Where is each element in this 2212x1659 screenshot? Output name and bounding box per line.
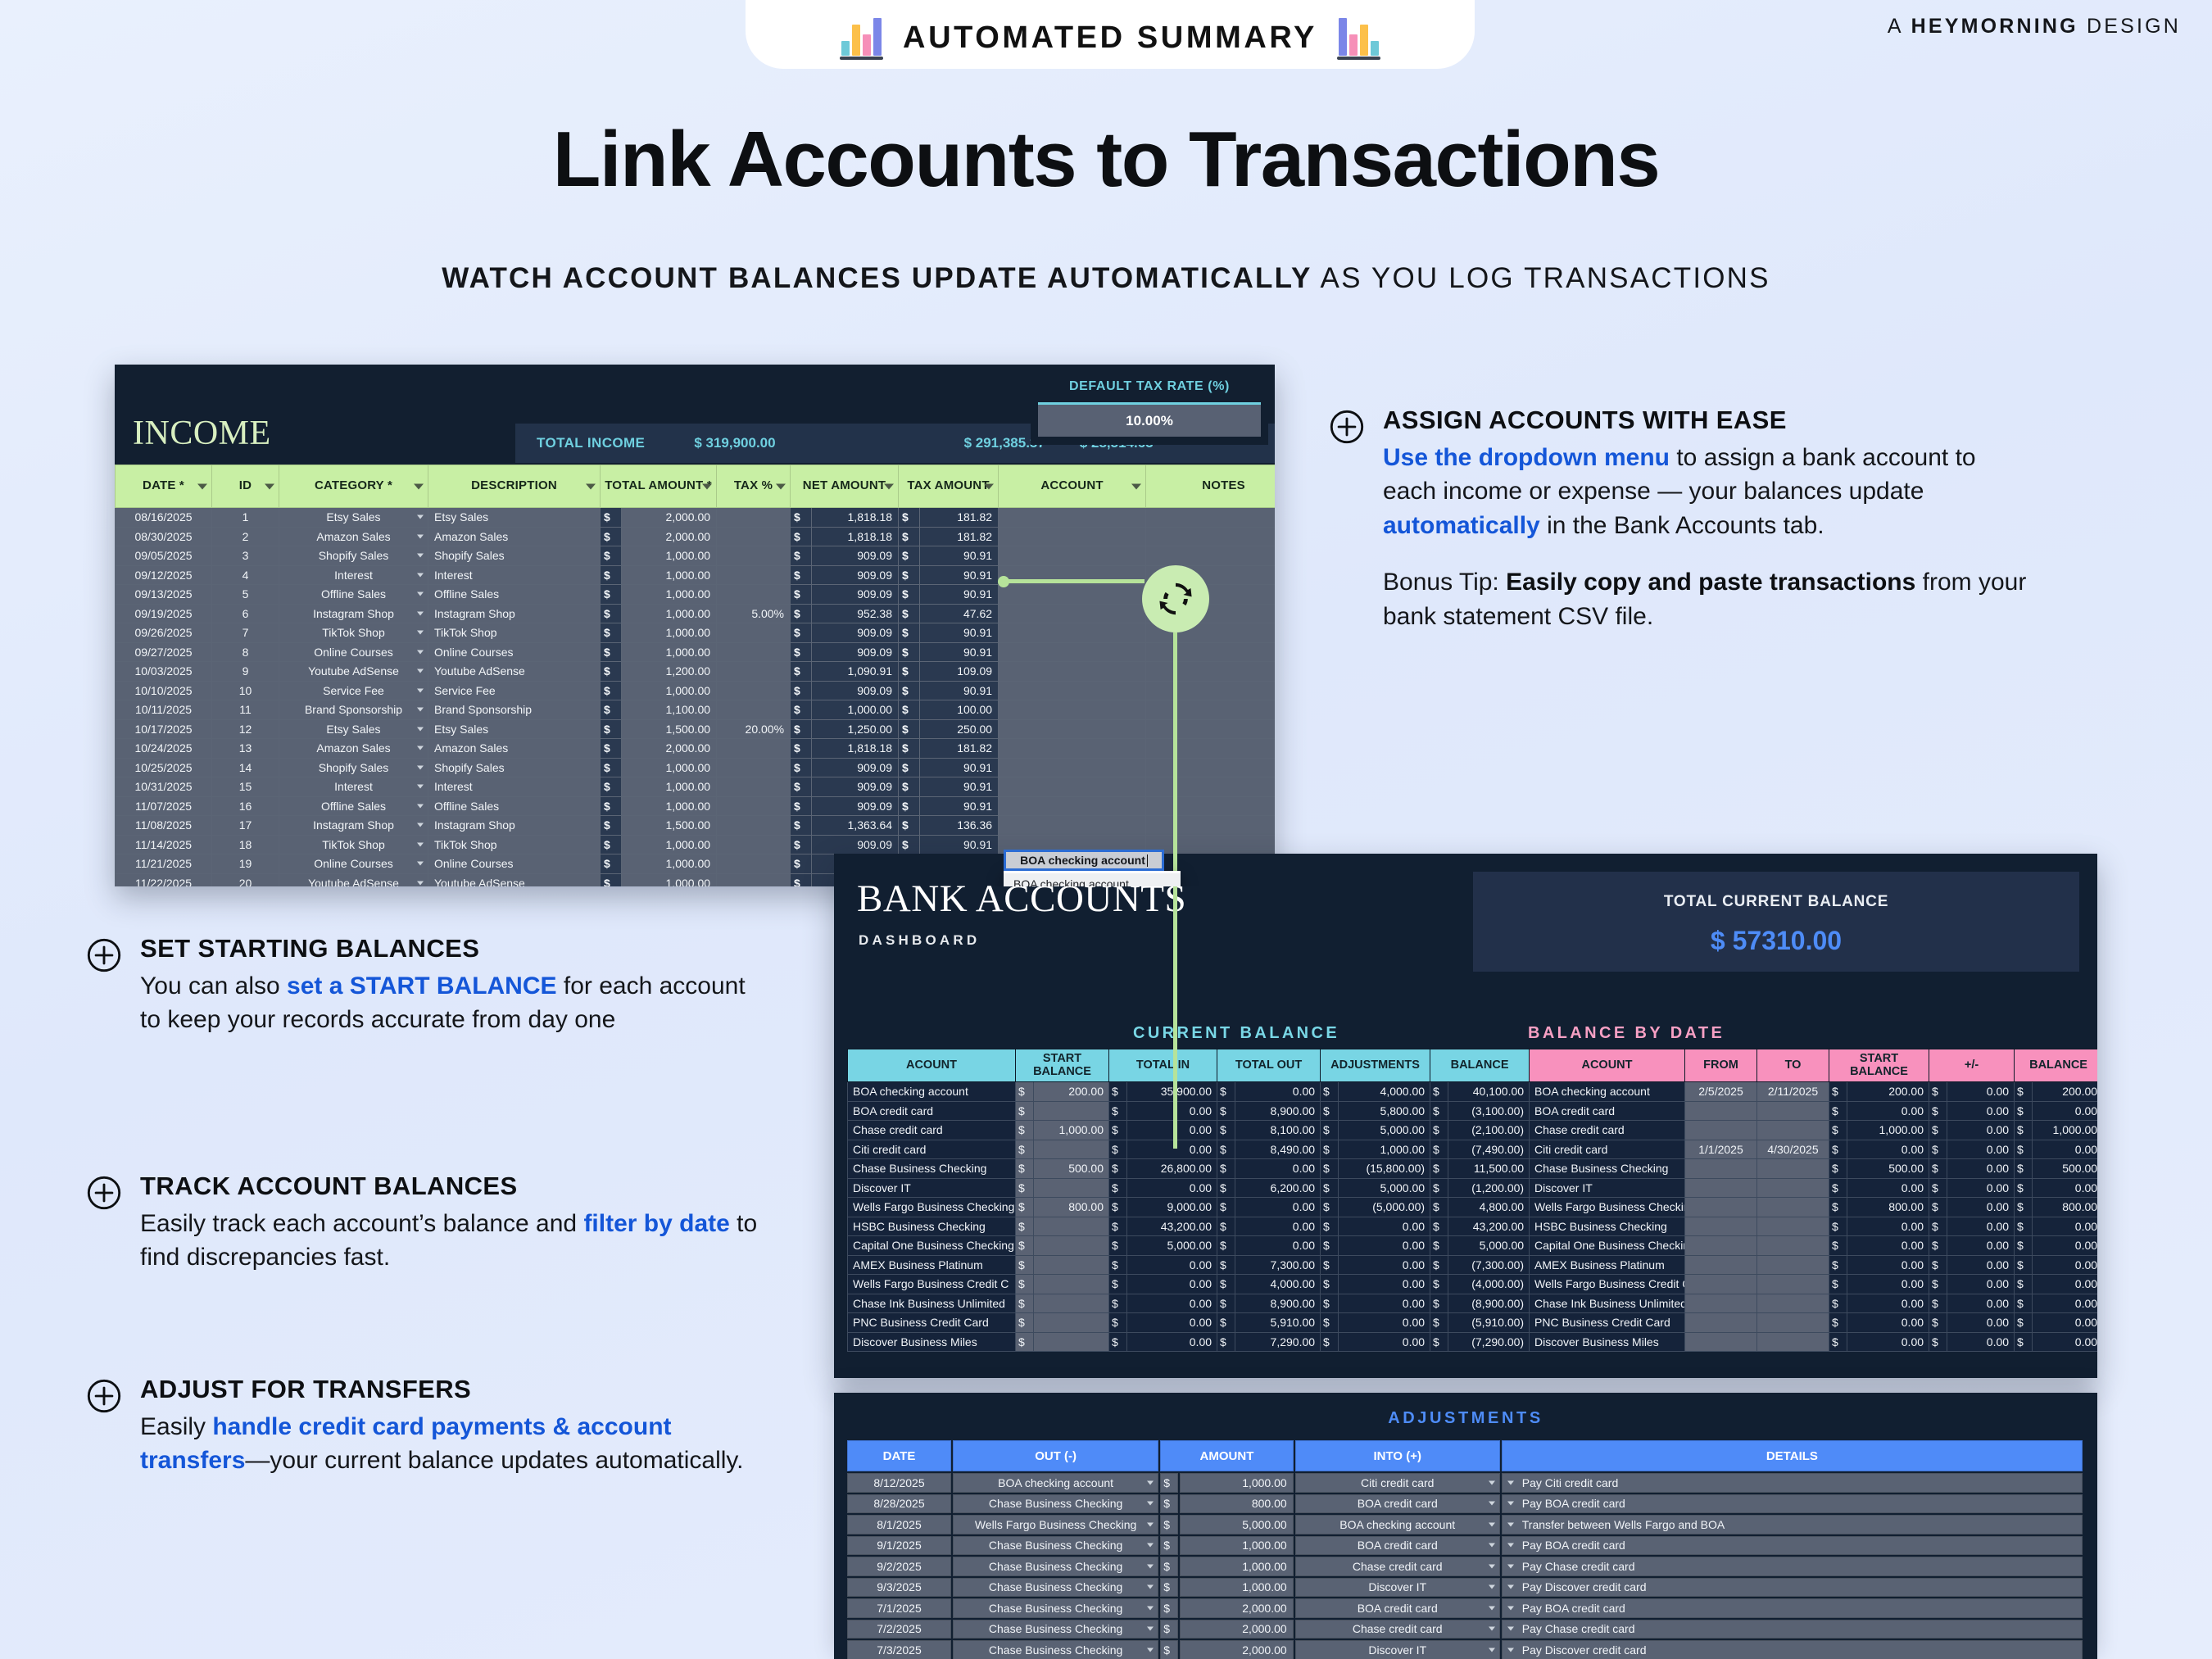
chevron-down-icon[interactable] <box>1147 1585 1154 1589</box>
current-balance-section-title: CURRENT BALANCE <box>1133 1024 1339 1043</box>
cb-balance: 43,200.00 <box>1448 1217 1530 1236</box>
column-header: AMOUNT <box>1160 1440 1293 1471</box>
chevron-down-icon[interactable] <box>1507 1522 1514 1526</box>
table-row[interactable]: 10/03/20259Youtube AdSenseYoutube AdSens… <box>116 662 1276 682</box>
chevron-down-icon[interactable] <box>417 592 424 596</box>
table-row[interactable]: 7/2/2025Chase Business Checking$2,000.00… <box>847 1620 2083 1639</box>
table-row[interactable]: 7/1/2025Chase Business Checking$2,000.00… <box>847 1598 2083 1618</box>
bd-plus-minus: 0.00 <box>1947 1198 2015 1217</box>
table-row[interactable]: 11/07/202516Offline SalesOffline Sales$1… <box>116 796 1276 816</box>
currency-symbol: $ <box>791 585 812 605</box>
income-id: 19 <box>212 854 279 874</box>
bd-from-date <box>1685 1217 1757 1236</box>
currency-symbol: $ <box>1929 1332 1947 1352</box>
currency-symbol: $ <box>601 796 622 816</box>
income-id: 5 <box>212 585 279 605</box>
adjustments-title: ADJUSTMENTS <box>834 1409 2097 1428</box>
currency-symbol: $ <box>1430 1217 1448 1236</box>
chevron-down-icon[interactable] <box>1489 1564 1495 1568</box>
income-notes <box>1146 796 1275 816</box>
chevron-down-icon[interactable] <box>1507 1648 1514 1652</box>
cb-total-out: 4,000.00 <box>1235 1275 1321 1294</box>
table-row[interactable]: Capital One Business Checking$0.00$0.00$… <box>1530 1236 2098 1256</box>
income-category: Shopify Sales <box>279 546 428 566</box>
chevron-down-icon[interactable] <box>1147 1606 1154 1610</box>
cb-account: HSBC Business Checking <box>848 1217 1016 1236</box>
table-row[interactable]: PNC Business Credit Card$0.00$0.00$0.00 <box>1530 1313 2098 1333</box>
currency-symbol: $ <box>2015 1313 2033 1333</box>
income-net-amount: 1,000.00 <box>812 700 899 720</box>
bd-start-balance: 800.00 <box>1847 1198 1929 1217</box>
table-row[interactable]: 8/28/2025Chase Business Checking$800.00B… <box>847 1494 2083 1514</box>
income-description: Instagram Shop <box>428 816 601 836</box>
currency-symbol: $ <box>1016 1275 1034 1294</box>
income-description: Interest <box>428 777 601 797</box>
currency-symbol: $ <box>601 816 622 836</box>
cb-balance: 4,800.00 <box>1448 1198 1530 1217</box>
default-tax-rate-input[interactable]: 10.00% <box>1038 402 1261 437</box>
chevron-down-icon[interactable] <box>1507 1480 1514 1484</box>
chevron-down-icon[interactable] <box>1147 1522 1154 1526</box>
cb-total-out: 8,900.00 <box>1235 1294 1321 1313</box>
total-income-value: $ 319,900.00 <box>694 435 775 451</box>
column-header: DATE * <box>116 465 212 508</box>
cb-adjustments: 0.00 <box>1339 1255 1430 1275</box>
adj-into-account: BOA checking account <box>1295 1515 1500 1534</box>
income-total-amount: 1,000.00 <box>622 623 717 643</box>
currency-symbol: $ <box>1929 1101 1947 1121</box>
bd-from-date <box>1685 1121 1757 1140</box>
currency-symbol: $ <box>1430 1159 1448 1179</box>
currency-symbol: $ <box>1016 1101 1034 1121</box>
income-account <box>999 527 1146 546</box>
bd-from-date <box>1685 1101 1757 1121</box>
income-account <box>999 585 1146 605</box>
currency-symbol: $ <box>1829 1275 1847 1294</box>
income-description: Instagram Shop <box>428 604 601 623</box>
cb-total-in: 0.00 <box>1127 1178 1217 1198</box>
income-net-amount: 1,818.18 <box>812 527 899 546</box>
income-id: 11 <box>212 700 279 720</box>
chevron-down-icon[interactable] <box>1507 1627 1514 1631</box>
table-row[interactable]: Chase credit card$1,000.00$0.00$1,000.00 <box>1530 1121 2098 1140</box>
chevron-down-icon[interactable] <box>417 631 424 635</box>
income-tax-pct <box>717 873 791 886</box>
currency-symbol: $ <box>1430 1140 1448 1159</box>
currency-symbol: $ <box>1430 1332 1448 1352</box>
bd-to-date: 2/11/2025 <box>1757 1082 1829 1102</box>
table-row[interactable]: 08/16/20251Etsy SalesEtsy Sales$2,000.00… <box>116 508 1276 528</box>
feature-heading: SET STARTING BALANCES <box>140 934 771 963</box>
bd-balance: 0.00 <box>2033 1313 2097 1333</box>
chevron-down-icon[interactable] <box>417 708 424 712</box>
transfers-pre: Easily <box>140 1413 212 1440</box>
table-row[interactable]: Citi credit card$$0.00$8,490.00$1,000.00… <box>848 1140 1530 1159</box>
bd-account: HSBC Business Checking <box>1530 1217 1685 1236</box>
adjustments-panel: ADJUSTMENTS DATEOUT (-)AMOUNTINTO (+)DET… <box>834 1393 2097 1659</box>
brand-mark: A HEYMORNING DESIGN <box>1888 15 2181 39</box>
table-row[interactable]: 10/17/202512Etsy SalesEtsy Sales$1,500.0… <box>116 719 1276 739</box>
income-account <box>999 604 1146 623</box>
income-tax-pct <box>717 681 791 700</box>
table-row[interactable]: Wells Fargo Business Credit C$0.00$0.00$… <box>1530 1275 2098 1294</box>
plus-circle-icon <box>86 1378 122 1414</box>
adj-amount: 800.00 <box>1180 1494 1294 1514</box>
income-net-amount: 952.38 <box>812 604 899 623</box>
chevron-down-icon[interactable] <box>417 669 424 673</box>
table-row[interactable]: 10/31/202515InterestInterest$1,000.00$90… <box>116 777 1276 797</box>
income-notes <box>1146 719 1275 739</box>
income-date: 10/24/2025 <box>116 739 212 759</box>
income-tax-pct: 20.00% <box>717 719 791 739</box>
currency-symbol: $ <box>1321 1198 1339 1217</box>
currency-symbol: $ <box>1217 1217 1235 1236</box>
table-row[interactable]: 10/10/202510Service FeeService Fee$1,000… <box>116 681 1276 700</box>
cb-balance: (5,910.00) <box>1448 1313 1530 1333</box>
income-total-amount: 1,000.00 <box>622 642 717 662</box>
currency-symbol: $ <box>899 662 920 682</box>
cb-account: PNC Business Credit Card <box>848 1313 1016 1333</box>
income-description: TikTok Shop <box>428 623 601 643</box>
plus-circle-icon <box>86 937 122 973</box>
income-net-amount: 909.09 <box>812 546 899 566</box>
currency-symbol: $ <box>1929 1236 1947 1256</box>
income-tax-amount: 90.91 <box>920 758 999 777</box>
table-row[interactable]: 09/27/20258Online CoursesOnline Courses$… <box>116 642 1276 662</box>
currency-symbol: $ <box>1217 1121 1235 1140</box>
income-category: Service Fee <box>279 681 428 700</box>
filter-icon[interactable] <box>702 483 712 489</box>
currency-symbol: $ <box>1321 1217 1339 1236</box>
chevron-down-icon[interactable] <box>417 842 424 846</box>
column-header: TAX % <box>717 465 791 508</box>
income-date: 11/21/2025 <box>116 854 212 874</box>
bd-start-balance: 0.00 <box>1847 1140 1929 1159</box>
table-row[interactable]: 10/25/202514Shopify SalesShopify Sales$1… <box>116 758 1276 777</box>
feature-paragraph: Easily handle credit card payments & acc… <box>140 1410 746 1478</box>
currency-symbol: $ <box>899 719 920 739</box>
currency-symbol: $ <box>1829 1101 1847 1121</box>
bd-plus-minus: 0.00 <box>1947 1121 2015 1140</box>
chevron-down-icon[interactable] <box>417 785 424 789</box>
table-row[interactable]: Wells Fargo Business Credit C$$0.00$4,00… <box>848 1275 1530 1294</box>
currency-symbol: $ <box>1109 1082 1127 1102</box>
income-total-amount: 1,000.00 <box>622 565 717 585</box>
chevron-down-icon[interactable] <box>1489 1502 1495 1506</box>
chevron-down-icon[interactable] <box>417 554 424 558</box>
column-header: ADJUSTMENTS <box>1321 1049 1430 1082</box>
bonus-tip-prefix: Bonus Tip: <box>1383 569 1506 596</box>
table-row[interactable]: Chase Business Checking$500.00$26,800.00… <box>848 1159 1530 1179</box>
table-row[interactable]: 10/24/202513Amazon SalesAmazon Sales$2,0… <box>116 739 1276 759</box>
table-row[interactable]: Discover IT$$0.00$6,200.00$5,000.00$(1,2… <box>848 1178 1530 1198</box>
table-row[interactable]: Citi credit card1/1/20254/30/2025$0.00$0… <box>1530 1140 2098 1159</box>
table-row[interactable]: PNC Business Credit Card$$0.00$5,910.00$… <box>848 1313 1530 1333</box>
currency-symbol: $ <box>2015 1255 2033 1275</box>
chevron-down-icon[interactable] <box>1489 1606 1495 1610</box>
chevron-down-icon[interactable] <box>417 804 424 808</box>
table-row[interactable]: BOA credit card$0.00$0.00$0.00 <box>1530 1101 2098 1121</box>
income-date: 11/08/2025 <box>116 816 212 836</box>
page-title: Link Accounts to Transactions <box>0 115 2212 205</box>
filter-icon[interactable] <box>414 483 424 489</box>
account-dropdown-input[interactable]: BOA checking account <box>1004 850 1164 871</box>
income-description: Online Courses <box>428 854 601 874</box>
table-row[interactable]: 08/30/20252Amazon SalesAmazon Sales$2,00… <box>116 527 1276 546</box>
income-id: 18 <box>212 835 279 854</box>
income-description: Youtube AdSense <box>428 662 601 682</box>
income-date: 09/13/2025 <box>116 585 212 605</box>
adj-out-account: Wells Fargo Business Checking <box>953 1515 1158 1534</box>
dropdown-option[interactable]: BOA checking account <box>1004 873 1181 886</box>
table-row[interactable]: 9/3/2025Chase Business Checking$1,000.00… <box>847 1578 2083 1598</box>
table-row[interactable]: 7/3/2025Chase Business Checking$2,000.00… <box>847 1640 2083 1659</box>
income-tax-amount: 90.91 <box>920 623 999 643</box>
cb-total-out: 6,200.00 <box>1235 1178 1321 1198</box>
table-row[interactable]: 11/08/202517Instagram ShopInstagram Shop… <box>116 816 1276 836</box>
income-notes <box>1146 835 1275 854</box>
currency-symbol: $ <box>791 758 812 777</box>
adj-into-account: Discover IT <box>1295 1640 1500 1659</box>
currency-symbol: $ <box>899 758 920 777</box>
income-tax-amount: 90.91 <box>920 835 999 854</box>
chevron-down-icon[interactable] <box>1489 1585 1495 1589</box>
table-row[interactable]: Chase credit card$1,000.00$0.00$8,100.00… <box>848 1121 1530 1140</box>
table-row[interactable]: Wells Fargo Business Checking$800.00$9,0… <box>848 1198 1530 1217</box>
cb-balance: (7,290.00) <box>1448 1332 1530 1352</box>
table-row[interactable]: AMEX Business Platinum$0.00$0.00$0.00 <box>1530 1255 2098 1275</box>
column-header: TAX AMOUNT <box>899 465 999 508</box>
chevron-down-icon[interactable] <box>1489 1522 1495 1526</box>
table-row[interactable]: BOA checking account2/5/20252/11/2025$20… <box>1530 1082 2098 1102</box>
income-date: 09/05/2025 <box>116 546 212 566</box>
currency-symbol: $ <box>791 642 812 662</box>
chevron-down-icon[interactable] <box>417 573 424 577</box>
filter-icon[interactable] <box>1131 483 1141 489</box>
table-row[interactable]: Wells Fargo Business Checking$800.00$0.0… <box>1530 1198 2098 1217</box>
currency-symbol: $ <box>1217 1236 1235 1256</box>
cb-start-balance: 800.00 <box>1034 1198 1109 1217</box>
chevron-down-icon[interactable] <box>1489 1648 1495 1652</box>
cb-balance: (4,000.00) <box>1448 1275 1530 1294</box>
income-tax-pct <box>717 758 791 777</box>
adj-into-account: BOA credit card <box>1295 1494 1500 1514</box>
assign-link-automatically: automatically <box>1383 512 1540 539</box>
income-tax-amount: 100.00 <box>920 700 999 720</box>
column-header: ACCOUNT <box>999 465 1146 508</box>
bd-to-date <box>1757 1236 1829 1256</box>
filter-icon[interactable] <box>884 483 894 489</box>
chevron-down-icon[interactable] <box>417 746 424 750</box>
currency-symbol: $ <box>791 546 812 566</box>
table-row[interactable]: Discover IT$0.00$0.00$0.00 <box>1530 1178 2098 1198</box>
currency-symbol: $ <box>1160 1494 1178 1514</box>
column-header: START BALANCE <box>1829 1049 1929 1082</box>
currency-symbol: $ <box>791 816 812 836</box>
income-total-amount: 1,000.00 <box>622 854 717 874</box>
plus-circle-icon <box>1329 409 1365 445</box>
currency-symbol: $ <box>899 681 920 700</box>
chevron-down-icon[interactable] <box>1147 1564 1154 1568</box>
chevron-down-icon[interactable] <box>1147 1502 1154 1506</box>
chevron-down-icon[interactable] <box>1507 1606 1514 1610</box>
currency-symbol: $ <box>1321 1313 1339 1333</box>
adj-amount: 1,000.00 <box>1180 1557 1294 1576</box>
table-row[interactable]: HSBC Business Checking$0.00$0.00$0.00 <box>1530 1217 2098 1236</box>
chevron-down-icon[interactable] <box>417 727 424 731</box>
currency-symbol: $ <box>1829 1140 1847 1159</box>
chevron-down-icon[interactable] <box>417 862 424 866</box>
currency-symbol: $ <box>1829 1217 1847 1236</box>
currency-symbol: $ <box>601 604 622 623</box>
column-header: CATEGORY * <box>279 465 428 508</box>
chevron-down-icon[interactable] <box>1489 1543 1495 1548</box>
currency-symbol: $ <box>1016 1178 1034 1198</box>
table-row[interactable]: 09/19/20256Instagram ShopInstagram Shop$… <box>116 604 1276 623</box>
table-row[interactable]: 10/11/202511Brand SponsorshipBrand Spons… <box>116 700 1276 720</box>
income-id: 8 <box>212 642 279 662</box>
table-row[interactable]: Capital One Business Checking$$5,000.00$… <box>848 1236 1530 1256</box>
income-category: Shopify Sales <box>279 758 428 777</box>
income-date: 09/12/2025 <box>116 565 212 585</box>
filter-icon[interactable] <box>776 483 786 489</box>
chevron-down-icon[interactable] <box>1147 1648 1154 1652</box>
chevron-down-icon[interactable] <box>1507 1585 1514 1589</box>
cb-account: Chase Ink Business Unlimited <box>848 1294 1016 1313</box>
table-row[interactable]: 09/13/20255Offline SalesOffline Sales$1,… <box>116 585 1276 605</box>
bd-start-balance: 200.00 <box>1847 1082 1929 1102</box>
income-date: 08/16/2025 <box>116 508 212 528</box>
currency-symbol: $ <box>1321 1236 1339 1256</box>
adj-amount: 2,000.00 <box>1180 1640 1294 1659</box>
bd-from-date: 1/1/2025 <box>1685 1140 1757 1159</box>
table-row[interactable]: Chase Business Checking$500.00$0.00$500.… <box>1530 1159 2098 1179</box>
column-header: TOTAL AMOUNT * <box>601 465 717 508</box>
income-account <box>999 508 1146 528</box>
adj-out-account: Chase Business Checking <box>953 1620 1158 1639</box>
currency-symbol: $ <box>2015 1101 2033 1121</box>
income-id: 16 <box>212 796 279 816</box>
income-net-amount: 1,818.18 <box>812 739 899 759</box>
chevron-down-icon[interactable] <box>1507 1502 1514 1506</box>
chevron-down-icon[interactable] <box>1147 1627 1154 1631</box>
chevron-down-icon[interactable] <box>417 611 424 615</box>
table-row[interactable]: Discover Business Miles$0.00$0.00$0.00 <box>1530 1332 2098 1352</box>
table-row[interactable]: AMEX Business Platinum$$0.00$7,300.00$0.… <box>848 1255 1530 1275</box>
income-date: 10/03/2025 <box>116 662 212 682</box>
cb-account: Wells Fargo Business Credit C <box>848 1275 1016 1294</box>
filter-icon[interactable] <box>586 483 596 489</box>
chevron-down-icon[interactable] <box>1147 1480 1154 1484</box>
currency-symbol: $ <box>1016 1255 1034 1275</box>
chevron-down-icon[interactable] <box>1489 1480 1495 1484</box>
income-date: 10/11/2025 <box>116 700 212 720</box>
income-id: 14 <box>212 758 279 777</box>
chevron-down-icon[interactable] <box>1147 1543 1154 1548</box>
currency-symbol: $ <box>899 700 920 720</box>
table-row[interactable]: BOA checking account$200.00$35,900.00$0.… <box>848 1082 1530 1102</box>
currency-symbol: $ <box>1829 1313 1847 1333</box>
bd-from-date <box>1685 1275 1757 1294</box>
table-row[interactable]: 8/12/2025BOA checking account$1,000.00Ci… <box>847 1473 2083 1493</box>
adj-amount: 2,000.00 <box>1180 1598 1294 1618</box>
income-id: 7 <box>212 623 279 643</box>
filter-icon[interactable] <box>265 483 274 489</box>
start-balance-link: set a START BALANCE <box>287 972 556 999</box>
table-row[interactable]: 8/1/2025Wells Fargo Business Checking$5,… <box>847 1515 2083 1534</box>
income-tax-pct <box>717 565 791 585</box>
income-tax-pct: 5.00% <box>717 604 791 623</box>
track-pre: Easily track each account’s balance and <box>140 1210 583 1237</box>
income-account <box>999 642 1146 662</box>
table-row[interactable]: Chase Ink Business Unlimited$$0.00$8,900… <box>848 1294 1530 1313</box>
table-row[interactable]: 09/05/20253Shopify SalesShopify Sales$1,… <box>116 546 1276 566</box>
currency-symbol: $ <box>601 719 622 739</box>
income-total-amount: 1,000.00 <box>622 835 717 854</box>
cb-start-balance: 1,000.00 <box>1034 1121 1109 1140</box>
currency-symbol: $ <box>2015 1236 2033 1256</box>
chevron-down-icon[interactable] <box>417 534 424 538</box>
chevron-down-icon[interactable] <box>1507 1564 1514 1568</box>
income-net-amount: 1,818.18 <box>812 508 899 528</box>
chevron-down-icon[interactable] <box>417 688 424 692</box>
chevron-down-icon[interactable] <box>417 881 424 885</box>
column-header: OUT (-) <box>953 1440 1158 1471</box>
income-notes <box>1146 527 1275 546</box>
bd-account: Discover IT <box>1530 1178 1685 1198</box>
account-dropdown-list[interactable]: BOA checking accountBOA credit cardChase… <box>1004 871 1181 886</box>
chevron-down-icon[interactable] <box>1507 1543 1514 1548</box>
income-category: Etsy Sales <box>279 719 428 739</box>
table-row[interactable]: 9/1/2025Chase Business Checking$1,000.00… <box>847 1536 2083 1556</box>
filter-icon[interactable] <box>984 483 994 489</box>
cb-start-balance <box>1034 1217 1109 1236</box>
table-row[interactable]: 09/26/20257TikTok ShopTikTok Shop$1,000.… <box>116 623 1276 643</box>
cb-start-balance <box>1034 1313 1109 1333</box>
table-row[interactable]: Chase Ink Business Unlimited$0.00$0.00$0… <box>1530 1294 2098 1313</box>
income-net-amount: 1,363.64 <box>812 816 899 836</box>
cb-account: BOA credit card <box>848 1101 1016 1121</box>
adj-date: 8/1/2025 <box>847 1515 951 1534</box>
currency-symbol: $ <box>791 681 812 700</box>
currency-symbol: $ <box>791 777 812 797</box>
currency-symbol: $ <box>899 739 920 759</box>
chevron-down-icon[interactable] <box>417 650 424 654</box>
table-row[interactable]: HSBC Business Checking$$43,200.00$0.00$0… <box>848 1217 1530 1236</box>
bd-to-date <box>1757 1121 1829 1140</box>
cb-total-out: 5,910.00 <box>1235 1313 1321 1333</box>
table-row[interactable]: BOA credit card$$0.00$8,900.00$5,800.00$… <box>848 1101 1530 1121</box>
bd-balance: 0.00 <box>2033 1275 2097 1294</box>
chevron-down-icon[interactable] <box>417 765 424 769</box>
bd-plus-minus: 0.00 <box>1947 1275 2015 1294</box>
chevron-down-icon[interactable] <box>417 823 424 827</box>
income-account <box>999 662 1146 682</box>
chevron-down-icon[interactable] <box>417 515 424 519</box>
bd-balance: 1,000.00 <box>2033 1121 2097 1140</box>
filter-icon[interactable] <box>197 483 207 489</box>
table-row[interactable]: 9/2/2025Chase Business Checking$1,000.00… <box>847 1557 2083 1576</box>
income-id: 13 <box>212 739 279 759</box>
table-row[interactable]: Discover Business Miles$$0.00$7,290.00$0… <box>848 1332 1530 1352</box>
bd-plus-minus: 0.00 <box>1947 1255 2015 1275</box>
bd-start-balance: 0.00 <box>1847 1294 1929 1313</box>
currency-symbol: $ <box>1321 1294 1339 1313</box>
chevron-down-icon[interactable] <box>1489 1627 1495 1631</box>
income-tax-pct <box>717 700 791 720</box>
bar-chart-icon-left <box>841 18 882 56</box>
cb-total-in: 0.00 <box>1127 1121 1217 1140</box>
